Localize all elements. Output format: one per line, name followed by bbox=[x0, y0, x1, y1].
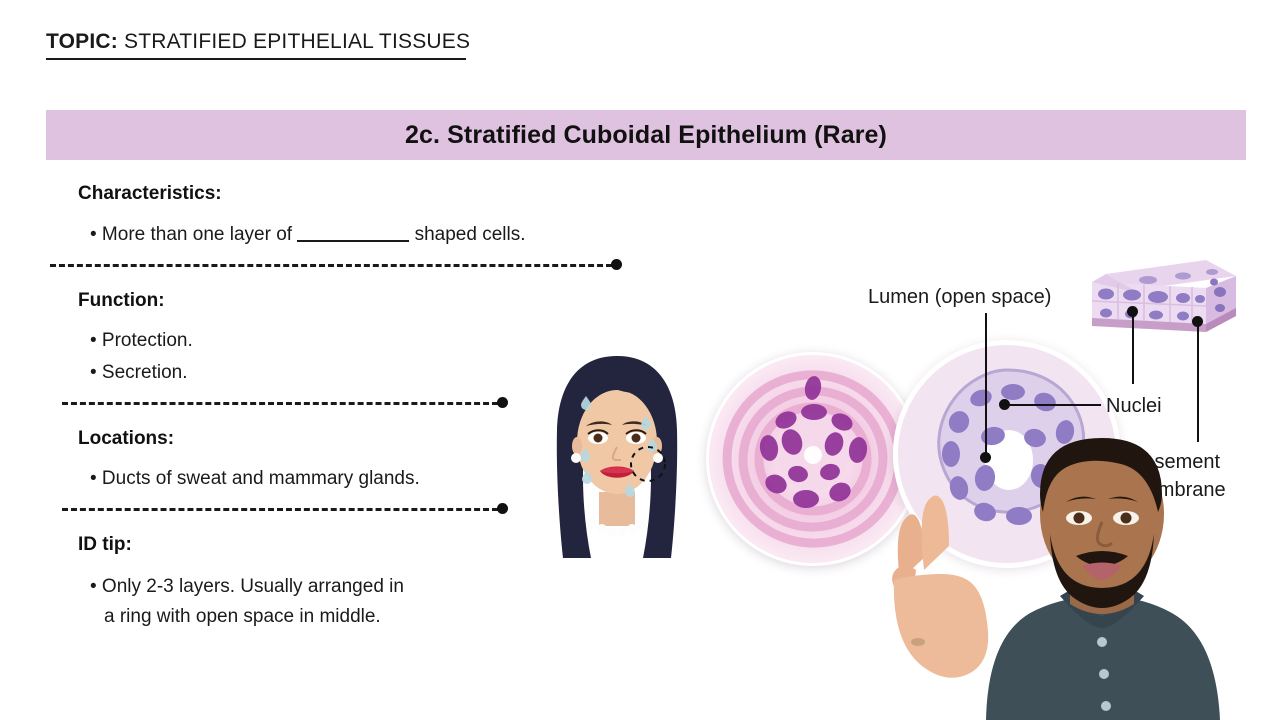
id-tip-line-1: • Only 2-3 layers. Usually arranged in bbox=[90, 576, 404, 597]
characteristics-bullet-text-after: shaped cells. bbox=[415, 224, 526, 245]
characteristics-bullet: • More than one layer of shaped cells. bbox=[90, 224, 526, 246]
divider-dashed-2 bbox=[62, 398, 508, 408]
tissue-block-3d-illustration bbox=[1088, 256, 1238, 354]
leader-line-basement-vertical bbox=[1197, 322, 1199, 442]
divider-dashed-1 bbox=[50, 260, 622, 270]
leader-dot-basement bbox=[1192, 316, 1203, 327]
leader-line-nuclei-ring bbox=[1005, 404, 1101, 406]
leader-line-nuclei-block bbox=[1132, 312, 1134, 384]
topic-header: TOPIC: STRATIFIED EPITHELIAL TISSUES bbox=[46, 30, 470, 54]
title-banner: 2c. Stratified Cuboidal Epithelium (Rare… bbox=[46, 110, 1246, 160]
topic-label: TOPIC: bbox=[46, 30, 118, 53]
section-heading-function: Function: bbox=[78, 290, 165, 312]
presenter-video-overlay bbox=[890, 430, 1220, 720]
divider-end-dot bbox=[497, 503, 508, 514]
function-item-secretion: • Secretion. bbox=[90, 362, 187, 384]
divider-end-dot bbox=[611, 259, 622, 270]
divider-line bbox=[62, 402, 498, 405]
id-tip-line-2: a ring with open space in middle. bbox=[90, 602, 404, 632]
slide-root: TOPIC: STRATIFIED EPITHELIAL TISSUES 2c.… bbox=[0, 0, 1280, 720]
divider-line bbox=[62, 508, 498, 511]
fill-in-blank[interactable] bbox=[297, 240, 409, 242]
section-heading-id-tip: ID tip: bbox=[78, 534, 132, 556]
label-nuclei: Nuclei bbox=[1106, 392, 1162, 420]
page-title: 2c. Stratified Cuboidal Epithelium (Rare… bbox=[405, 121, 887, 150]
divider-line bbox=[50, 264, 612, 267]
function-item-protection: • Protection. bbox=[90, 330, 193, 352]
label-lumen: Lumen (open space) bbox=[868, 283, 1051, 311]
characteristics-bullet-text-before: • More than one layer of bbox=[90, 224, 292, 245]
leader-dot-nuclei-block bbox=[1127, 306, 1138, 317]
divider-end-dot bbox=[497, 397, 508, 408]
histology-micrograph-circle bbox=[706, 352, 920, 566]
leader-dot-nuclei-ring bbox=[999, 399, 1010, 410]
topic-value: STRATIFIED EPITHELIAL TISSUES bbox=[124, 30, 470, 53]
topic-underline bbox=[46, 58, 466, 60]
id-tip-body: • Only 2-3 layers. Usually arranged in a… bbox=[90, 572, 404, 632]
section-heading-locations: Locations: bbox=[78, 428, 174, 450]
divider-dashed-3 bbox=[62, 504, 508, 514]
locations-item-ducts: • Ducts of sweat and mammary glands. bbox=[90, 468, 420, 490]
section-heading-characteristics: Characteristics: bbox=[78, 183, 222, 205]
woman-sweating-illustration bbox=[524, 352, 710, 564]
